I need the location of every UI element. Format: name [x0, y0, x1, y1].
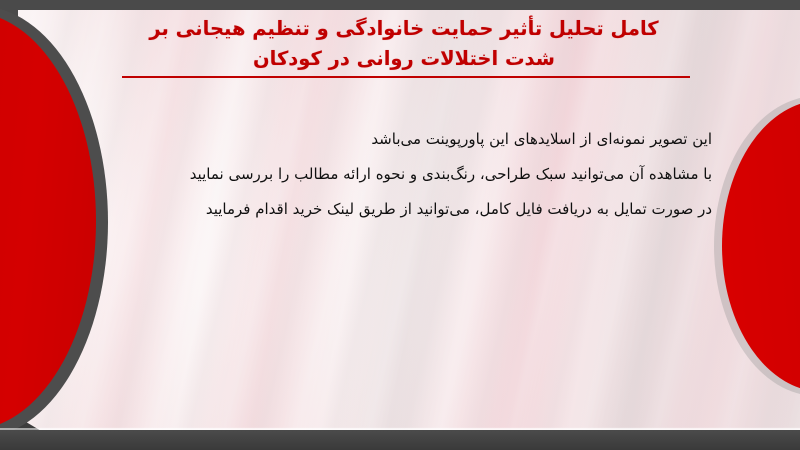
slide-title-line-1: کامل تحلیل تأثیر حمایت خانوادگی و تنظیم …: [104, 14, 704, 44]
slide-title-line-2: شدت اختلالات روانی در کودکان: [104, 44, 704, 74]
title-underline-rule: [122, 76, 690, 78]
slide-title: کامل تحلیل تأثیر حمایت خانوادگی و تنظیم …: [104, 14, 704, 74]
body-text-line-1: این تصویر نمونه‌ای از اسلایدهای این پاور…: [102, 122, 712, 157]
body-text-line-2: با مشاهده آن می‌توانید سبک طراحی، رنگ‌بن…: [102, 157, 712, 192]
slide-body-text: این تصویر نمونه‌ای از اسلایدهای این پاور…: [102, 122, 712, 227]
bottom-dark-band: [0, 430, 800, 450]
presentation-slide: کامل تحلیل تأثیر حمایت خانوادگی و تنظیم …: [0, 0, 800, 450]
body-text-line-3: در صورت تمایل به دریافت فایل کامل، می‌تو…: [102, 192, 712, 227]
